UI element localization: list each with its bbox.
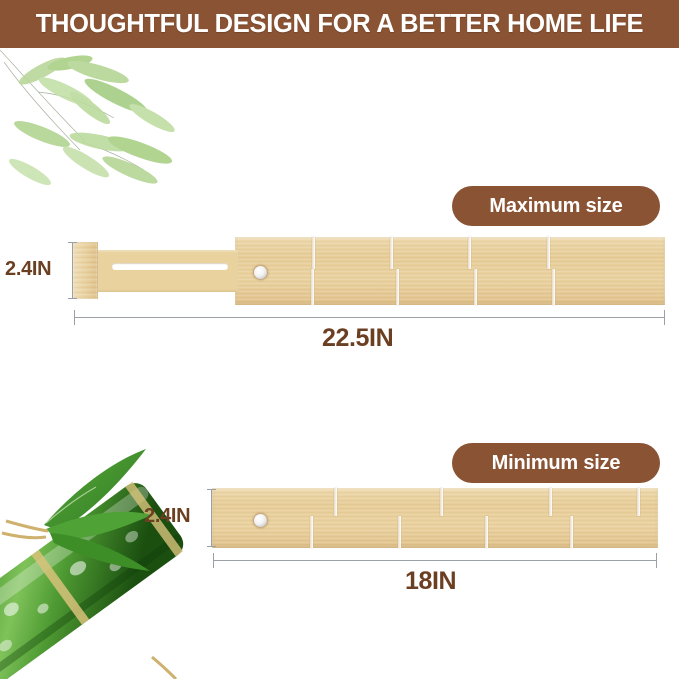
dimension-label-height-minimum: 2.4IN xyxy=(144,505,190,528)
divider-knob-minimum xyxy=(253,513,268,528)
notch-top xyxy=(390,237,393,269)
notch-bottom xyxy=(396,269,399,305)
notch-bottom xyxy=(485,516,488,548)
notch-bottom xyxy=(570,516,573,548)
notch-bottom xyxy=(310,516,313,548)
notch-bottom xyxy=(474,269,477,305)
notch-top xyxy=(637,488,640,516)
bamboo-leaves-icon xyxy=(0,46,244,196)
divider-body-maximum xyxy=(235,237,665,305)
dimension-line-height-minimum xyxy=(211,489,212,547)
badge-minimum-size: Minimum size xyxy=(452,443,660,483)
infographic-page: THOUGHTFUL DESIGN FOR A BETTER HOME LIFE xyxy=(0,0,679,679)
notch-top xyxy=(549,488,552,516)
divider-end-cap xyxy=(73,242,98,299)
notch-top xyxy=(547,237,550,269)
page-title: THOUGHTFUL DESIGN FOR A BETTER HOME LIFE xyxy=(36,10,644,39)
badge-maximum-size: Maximum size xyxy=(452,186,660,226)
dimension-label-length-maximum: 22.5IN xyxy=(322,324,393,353)
notch-bottom xyxy=(398,516,401,548)
dimension-label-height-maximum: 2.4IN xyxy=(5,258,51,281)
extension-arm-slot xyxy=(112,263,228,270)
badge-maximum-size-label: Maximum size xyxy=(489,195,622,218)
header-banner: THOUGHTFUL DESIGN FOR A BETTER HOME LIFE xyxy=(0,0,679,48)
notch-top xyxy=(312,237,315,269)
notch-bottom xyxy=(311,269,314,305)
dimension-label-length-minimum: 18IN xyxy=(405,567,456,596)
notch-top xyxy=(440,488,443,516)
divider-body-minimum xyxy=(212,488,658,548)
divider-knob-maximum xyxy=(253,265,268,280)
badge-minimum-size-label: Minimum size xyxy=(492,452,621,475)
dimension-line-length-minimum xyxy=(213,560,657,561)
notch-top xyxy=(334,488,337,516)
divider-extension-arm xyxy=(96,250,238,292)
bamboo-stalk-photo xyxy=(0,425,235,679)
dimension-line-height-maximum xyxy=(72,242,73,299)
notch-bottom xyxy=(552,269,555,305)
notch-top xyxy=(468,237,471,269)
dimension-line-length-maximum xyxy=(74,317,665,318)
